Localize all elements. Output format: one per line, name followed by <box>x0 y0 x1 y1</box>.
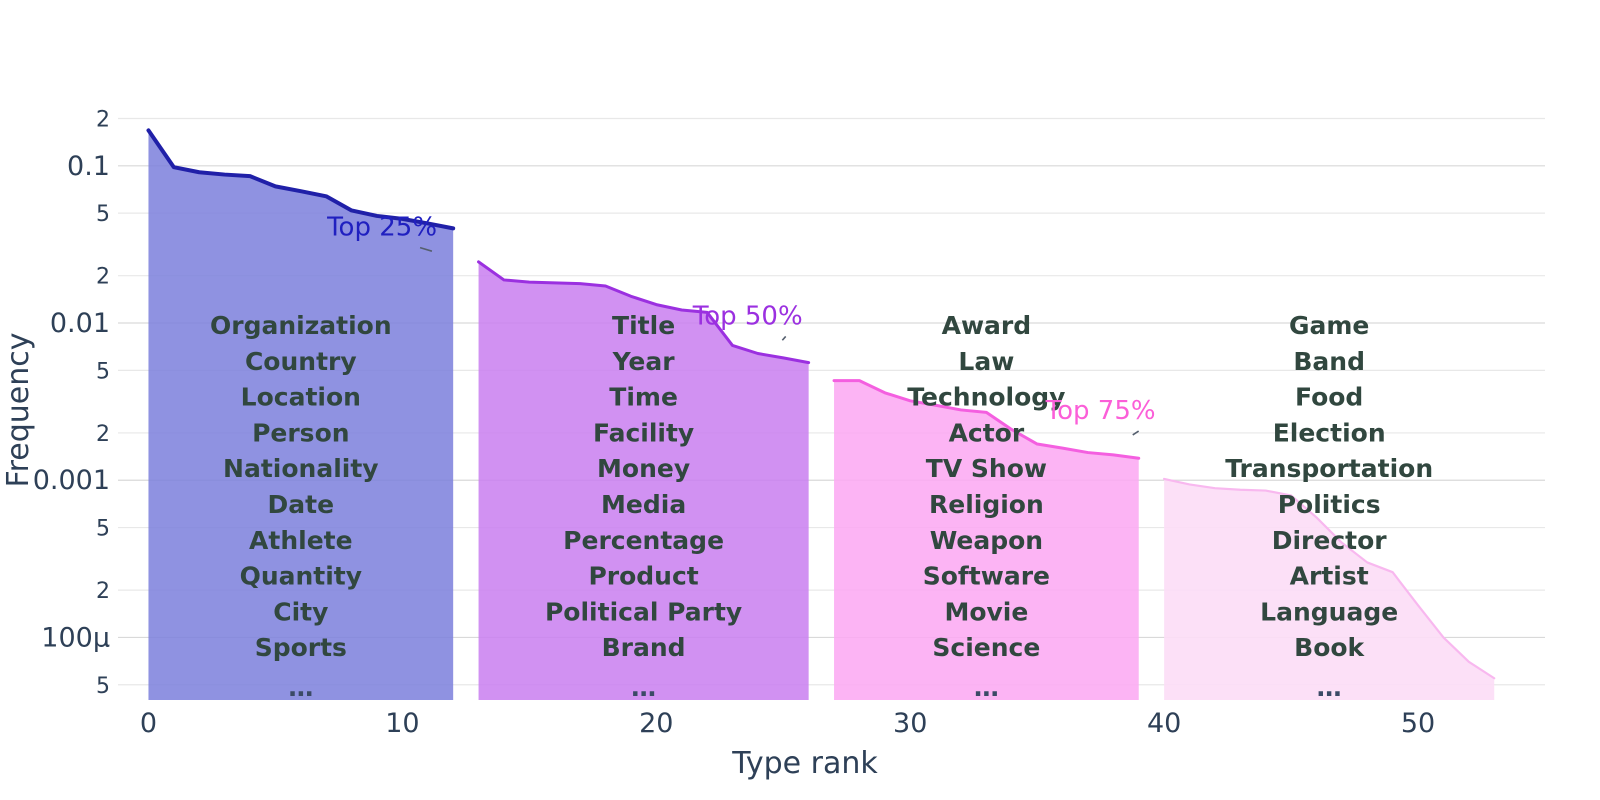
bucket-ellipsis: … <box>631 673 656 702</box>
bucket-word: Book <box>1294 633 1365 662</box>
y-tick-label: 5 <box>96 202 110 227</box>
y-tick-label: 2 <box>96 108 110 133</box>
bucket-word: Nationality <box>223 454 379 483</box>
y-tick-label: 0.01 <box>50 308 110 339</box>
bucket-word: Year <box>612 347 676 376</box>
x-tick-label: 30 <box>893 708 927 739</box>
bucket-word: Facility <box>593 418 694 447</box>
y-tick-label: 2 <box>96 265 110 290</box>
bucket-word: Movie <box>944 597 1028 626</box>
bucket-word: Religion <box>929 490 1044 519</box>
bucket-word: Title <box>612 311 675 340</box>
bucket-word: Actor <box>949 418 1025 447</box>
bucket-word: Election <box>1273 418 1386 447</box>
bucket-word: TV Show <box>926 454 1047 483</box>
y-tick-label: 5 <box>96 674 110 699</box>
bucket-word: Artist <box>1290 562 1369 591</box>
bucket-word: Director <box>1272 526 1388 555</box>
bucket-word: Money <box>597 454 690 483</box>
y-tick-label: 5 <box>96 517 110 542</box>
x-tick-label: 50 <box>1401 708 1435 739</box>
bucket-word: Percentage <box>563 526 724 555</box>
bucket-word: Law <box>958 347 1014 376</box>
bucket-word: Food <box>1295 383 1363 412</box>
bucket-word: Time <box>609 383 678 412</box>
bucket-word: City <box>273 597 328 626</box>
x-tick-label: 10 <box>385 708 419 739</box>
bucket-word: Politics <box>1278 490 1381 519</box>
y-tick-label: 2 <box>96 579 110 604</box>
bucket-word: Athlete <box>249 526 353 555</box>
y-tick-label: 100µ <box>41 622 110 653</box>
bucket-word: Product <box>588 562 698 591</box>
bucket-word: Technology <box>907 383 1065 412</box>
bucket-word: Science <box>932 633 1040 662</box>
bucket-word: Language <box>1260 597 1398 626</box>
x-tick-label: 0 <box>140 708 157 739</box>
bucket-word: Quantity <box>240 562 363 591</box>
quartile-annotation-label: Top 25% <box>326 213 437 243</box>
y-tick-label: 2 <box>96 422 110 447</box>
quartile-annotation-label: Top 75% <box>1045 396 1156 426</box>
bucket-ellipsis: … <box>288 673 313 702</box>
bucket-word: Political Party <box>545 597 742 626</box>
x-axis-title: Type rank <box>731 746 878 781</box>
bucket-word: Media <box>601 490 686 519</box>
bucket-ellipsis: … <box>1317 673 1342 702</box>
bucket-word: Organization <box>210 311 392 340</box>
bucket-word: Transportation <box>1225 454 1433 483</box>
bucket-word: Country <box>245 347 357 376</box>
bucket-word: Person <box>252 418 349 447</box>
bucket-word: Date <box>268 490 335 519</box>
bucket-word: Band <box>1293 347 1365 376</box>
x-tick-label: 40 <box>1147 708 1181 739</box>
quartile-annotation-label: Top 50% <box>692 301 803 331</box>
bucket-word: Game <box>1289 311 1369 340</box>
frequency-type-rank-area-chart: OrganizationCountryLocationPersonNationa… <box>0 0 1600 800</box>
chart-container: OrganizationCountryLocationPersonNationa… <box>0 0 1600 800</box>
y-tick-label: 0.001 <box>33 465 110 496</box>
y-tick-label: 5 <box>96 359 110 384</box>
bucket-word: Weapon <box>930 526 1043 555</box>
bucket-word: Brand <box>602 633 686 662</box>
bucket-word: Software <box>923 562 1050 591</box>
bucket-word: Award <box>942 311 1032 340</box>
y-axis-title: Frequency <box>1 333 36 488</box>
bucket-ellipsis: … <box>974 673 999 702</box>
bucket-word: Location <box>241 383 361 412</box>
bucket-word: Sports <box>255 633 347 662</box>
x-tick-label: 20 <box>639 708 673 739</box>
y-tick-label: 0.1 <box>67 151 110 182</box>
